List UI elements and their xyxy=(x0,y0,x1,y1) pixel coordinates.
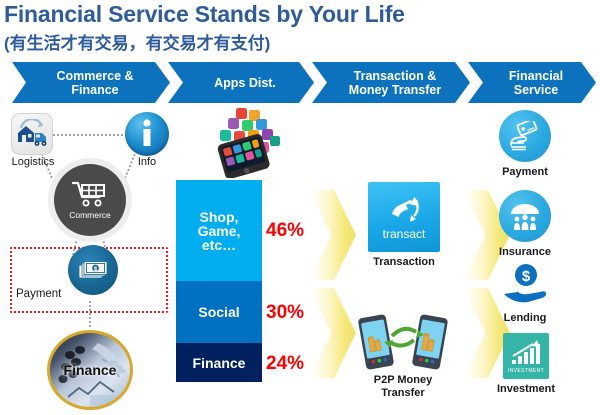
bar-value-shop-game: 46% xyxy=(266,220,304,242)
service-label-insurance: Insurance xyxy=(489,246,561,258)
svg-text:$: $ xyxy=(94,266,98,273)
p2p-label-line1: P2P Money xyxy=(352,374,454,387)
svg-text:$: $ xyxy=(522,268,531,285)
logistics-house-truck-icon xyxy=(15,119,49,149)
chevron-shape: Commerce & Finance xyxy=(12,62,170,103)
chevron-shape: Apps Dist. xyxy=(168,62,314,103)
transact-tile[interactable]: transact xyxy=(368,182,440,252)
bar-label-finance: Finance xyxy=(193,356,246,370)
bar-segment-social[interactable]: Social xyxy=(176,281,262,343)
info-icon[interactable] xyxy=(125,112,169,156)
connector-logistics-info xyxy=(48,133,134,136)
umbrella-family-icon xyxy=(507,201,543,231)
bar-segment-finance[interactable]: Finance xyxy=(176,343,262,382)
p2p-label-line2: Transfer xyxy=(352,387,454,400)
shopping-cart-icon xyxy=(72,181,108,207)
hand-coin-icon: $ xyxy=(500,262,552,310)
p2p-money-transfer-label: P2P Money Transfer xyxy=(352,374,454,400)
commerce-node[interactable]: Commerce xyxy=(48,158,132,242)
service-label-payment: Payment xyxy=(489,166,561,178)
payment-node-label: Payment xyxy=(16,288,72,300)
chevron-shape: Financial Service xyxy=(468,62,596,103)
process-step-transaction-money-transfer[interactable]: Transaction & Money Transfer xyxy=(312,62,470,103)
process-step-label-line2: Money Transfer xyxy=(349,83,441,97)
payment-node-icon[interactable]: $ xyxy=(68,245,118,295)
service-label-investment: Investment xyxy=(485,383,567,395)
two-phones-money-transfer-icon xyxy=(348,310,458,372)
process-step-label-line1: Financial xyxy=(509,69,563,83)
service-label-lending: Lending xyxy=(489,312,561,324)
page-subtitle: (有生活才有交易，有交易才有支付) xyxy=(4,29,270,54)
commerce-circle: Commerce xyxy=(54,164,126,236)
p2p-money-transfer-icon xyxy=(348,310,458,372)
finance-node[interactable]: Finance xyxy=(47,330,133,410)
service-icon-investment[interactable]: INVESTMENT xyxy=(503,333,549,379)
flow-arrow-apps-to-transaction-top xyxy=(310,190,356,280)
process-step-label-line2: Service xyxy=(509,83,563,97)
logistics-icon[interactable] xyxy=(11,113,53,155)
transact-tile-label: transact xyxy=(383,227,426,241)
phone-with-floating-apps-icon xyxy=(200,106,292,178)
process-step-commerce-finance[interactable]: Commerce & Finance xyxy=(12,62,170,103)
chevron-shape: Transaction & Money Transfer xyxy=(312,62,470,103)
investment-tile-caption: INVESTMENT xyxy=(508,368,544,374)
commerce-label: Commerce xyxy=(69,210,111,220)
transact-arrow-hand-icon xyxy=(387,194,421,224)
service-icon-lending[interactable]: $ xyxy=(500,262,552,310)
smartphone-apps-icon xyxy=(200,106,292,178)
logistics-label: Logistics xyxy=(1,156,65,168)
banknote-icon: $ xyxy=(78,260,108,280)
process-step-label-line1: Commerce & xyxy=(56,69,133,83)
info-label: Info xyxy=(117,156,177,168)
finance-label: Finance xyxy=(64,362,117,378)
page-title: Financial Service Stands by Your Life xyxy=(4,1,405,28)
growth-chart-icon xyxy=(509,339,543,367)
bar-value-social: 30% xyxy=(266,302,304,324)
process-step-financial-service[interactable]: Financial Service xyxy=(468,62,596,103)
process-step-label-line1: Transaction & xyxy=(349,69,441,83)
bar-label-social: Social xyxy=(198,305,239,319)
service-icon-payment[interactable] xyxy=(499,110,551,162)
bar-label-shop-game: Shop,Game,etc… xyxy=(198,210,241,252)
infographic-canvas: Financial Service Stands by Your Life (有… xyxy=(0,0,600,415)
bar-segment-shop-game[interactable]: Shop,Game,etc… xyxy=(176,180,262,281)
service-icon-insurance[interactable] xyxy=(499,190,551,242)
process-step-label-line2: Finance xyxy=(56,83,133,97)
info-letter-i-icon xyxy=(137,118,157,150)
transaction-label: Transaction xyxy=(358,256,450,268)
process-step-label-line1: Apps Dist. xyxy=(214,76,276,90)
process-step-apps-dist[interactable]: Apps Dist. xyxy=(168,62,314,103)
bar-value-finance: 24% xyxy=(266,353,304,375)
hand-card-icon xyxy=(508,121,542,151)
